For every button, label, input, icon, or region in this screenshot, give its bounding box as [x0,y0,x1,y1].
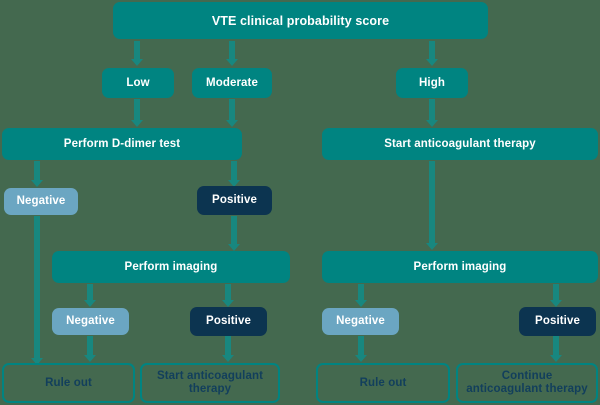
node-label: Moderate [206,77,258,90]
node-label: Positive [206,315,251,328]
node-start-anticoagulant-therapy: Start anticoagulant therapy [322,128,598,160]
connector-imaging-right-positive-to-continue-anticoagulant [550,336,562,363]
connector-imaging-left-positive-to-start-anticoagulant [222,336,234,363]
connector-root-to-high [426,41,438,66]
connector-imaging-right-to-negative [355,284,367,308]
node-risk-high: High [396,68,468,98]
node-risk-moderate: Moderate [192,68,272,98]
node-label: Perform imaging [125,261,218,274]
connector-moderate-to-ddimer-test [226,99,238,129]
node-ddimer-result-positive: Positive [197,186,272,215]
connector-high-to-start-anticoagulant [426,99,438,129]
connector-root-to-moderate [226,41,238,66]
connector-root-to-low [131,41,143,66]
connector-ddimer-to-negative [31,161,43,188]
node-imaging-left-positive: Positive [190,307,267,336]
connector-imaging-left-negative-to-rule-out [84,336,96,363]
node-label: Start anticoagulant therapy [384,138,536,151]
connector-low-to-ddimer-test [131,99,143,129]
node-outcome-rule-out-left: Rule out [2,363,135,403]
node-label: VTE clinical probability score [212,14,389,28]
node-perform-imaging-right: Perform imaging [322,251,598,283]
connector-imaging-right-to-positive [550,284,562,308]
node-label: High [419,77,445,90]
node-label: Negative [336,315,385,328]
node-label: Negative [66,315,115,328]
connector-ddimer-positive-to-imaging-left [228,216,240,252]
node-imaging-left-negative: Negative [52,308,129,335]
node-label: Positive [535,315,580,328]
vte-diagnostic-flowchart: VTE clinical probability score Low Moder… [0,0,600,405]
node-perform-d-dimer-test: Perform D-dimer test [2,128,242,160]
node-label: Rule out [360,377,407,390]
node-label: Perform imaging [414,261,507,274]
node-outcome-start-anticoagulant-therapy: Start anticoagulant therapy [140,363,280,403]
node-label: Negative [17,195,66,208]
node-label: Perform D-dimer test [64,138,180,151]
connector-ddimer-to-positive [228,161,240,188]
connector-start-anticoagulant-to-imaging-right [426,161,438,251]
connector-imaging-left-to-positive [222,284,234,308]
node-vte-clinical-probability-score: VTE clinical probability score [113,2,488,39]
node-label: Start anticoagulant therapy [148,370,272,396]
node-label: Rule out [45,377,92,390]
node-outcome-rule-out-right: Rule out [316,363,450,403]
node-perform-imaging-left: Perform imaging [52,251,290,283]
node-imaging-right-positive: Positive [519,307,596,336]
node-label: Continue anticoagulant therapy [464,370,590,396]
node-risk-low: Low [102,68,174,98]
node-label: Low [126,77,149,90]
connector-ddimer-negative-to-rule-out [31,216,43,366]
connector-imaging-left-to-negative [84,284,96,308]
node-label: Positive [212,194,257,207]
node-ddimer-result-negative: Negative [4,188,78,215]
connector-imaging-right-negative-to-rule-out [355,336,367,363]
node-imaging-right-negative: Negative [322,308,399,335]
node-outcome-continue-anticoagulant-therapy: Continue anticoagulant therapy [456,363,598,403]
